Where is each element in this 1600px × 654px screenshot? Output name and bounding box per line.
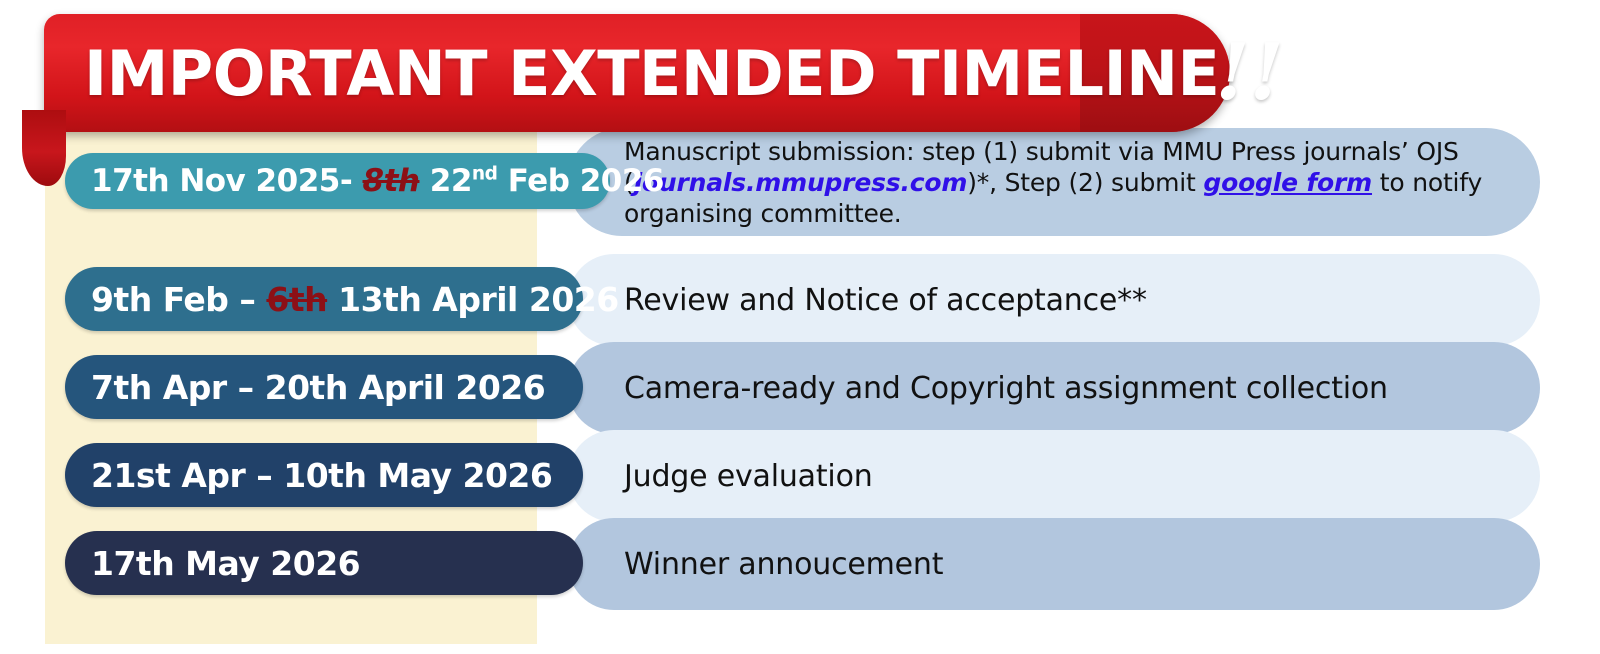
- google-form-link[interactable]: google form: [1203, 168, 1372, 197]
- description-bar: Review and Notice of acceptance**: [568, 254, 1540, 346]
- description-bar: Winner annoucement: [568, 518, 1540, 610]
- date-pill: 17th May 2026: [65, 531, 583, 595]
- ribbon-fold-icon: [22, 110, 66, 186]
- date-label: 17th Nov 2025- 8th 22nd Feb 2026: [91, 163, 664, 199]
- struck-date: 8th: [363, 163, 420, 199]
- ordinal-suffix: nd: [472, 164, 498, 185]
- description-bar: Camera-ready and Copyright assignment co…: [568, 342, 1540, 434]
- date-segment: 22: [419, 163, 471, 199]
- description-text: Winner annoucement: [624, 547, 943, 582]
- date-segment: 9th Feb –: [91, 280, 266, 319]
- date-segment: 17th Nov 2025-: [91, 163, 363, 199]
- date-pill: 17th Nov 2025- 8th 22nd Feb 2026: [65, 153, 610, 209]
- description-text: Judge evaluation: [624, 459, 873, 494]
- description-bar: Judge evaluation: [568, 430, 1540, 522]
- date-label: 21st Apr – 10th May 2026: [91, 456, 552, 495]
- timeline-infographic: Manuscript submission: step (1) submit v…: [0, 0, 1600, 654]
- date-segment: Feb 2026: [497, 163, 664, 199]
- description-text: Camera-ready and Copyright assignment co…: [624, 371, 1388, 406]
- date-label: 7th Apr – 20th April 2026: [91, 368, 545, 407]
- journals-link[interactable]: journals.mmupress.com: [634, 168, 968, 197]
- struck-date: 6th: [266, 280, 327, 319]
- description-text: Review and Notice of acceptance**: [624, 283, 1147, 318]
- date-pill: 9th Feb – 6th 13th April 2026: [65, 267, 583, 331]
- date-label: 9th Feb – 6th 13th April 2026: [91, 280, 619, 319]
- description-bar: Manuscript submission: step (1) submit v…: [568, 128, 1540, 236]
- date-segment: 13th April 2026: [327, 280, 619, 319]
- description-segment: )*, Step (2) submit: [967, 168, 1203, 197]
- description-text: Manuscript submission: step (1) submit v…: [624, 136, 1512, 229]
- ribbon-banner: IMPORTANT EXTENDED TIMELINE !!: [22, 14, 1230, 132]
- ribbon-body: IMPORTANT EXTENDED TIMELINE !!: [44, 14, 1230, 132]
- date-pill: 21st Apr – 10th May 2026: [65, 443, 583, 507]
- date-pill: 7th Apr – 20th April 2026: [65, 355, 583, 419]
- page-title: IMPORTANT EXTENDED TIMELINE: [84, 37, 1219, 110]
- date-label: 17th May 2026: [91, 544, 360, 583]
